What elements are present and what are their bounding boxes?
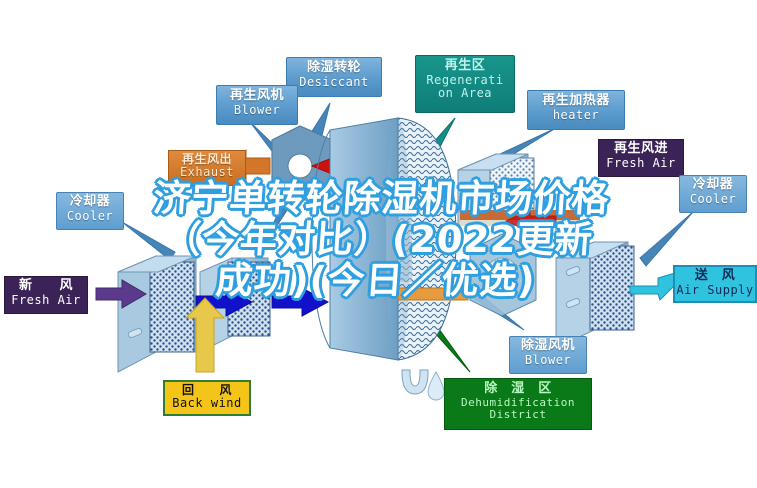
label-regeneration-area-cn: 再生区	[416, 59, 514, 74]
label-regen-fresh-air: 再生风进 Fresh Air	[598, 139, 684, 177]
label-cooler-right-cn: 冷却器	[680, 178, 746, 193]
label-desiccant-en: Desiccant	[287, 76, 381, 89]
label-air-supply-en: Air Supply	[675, 284, 755, 297]
label-exhaust-en: Exhaust	[169, 166, 245, 179]
label-dehum-blower-cn: 除湿风机	[510, 339, 586, 354]
label-cooler-left: 冷却器 Cooler	[56, 192, 124, 230]
label-dehum-blower-en: Blower	[510, 354, 586, 367]
label-regeneration-area-en: Regenerati on Area	[416, 74, 514, 101]
label-back-wind: 回 风 Back wind	[163, 380, 251, 416]
label-regeneration-area: 再生区 Regenerati on Area	[415, 55, 515, 113]
label-regen-fresh-air-en: Fresh Air	[599, 157, 683, 170]
label-back-wind-cn: 回 风	[165, 384, 249, 397]
label-cooler-left-en: Cooler	[57, 210, 123, 223]
label-regen-blower-en: Blower	[217, 104, 297, 117]
label-exhaust-cn: 再生风出	[169, 153, 245, 166]
label-fresh-air-en: Fresh Air	[5, 294, 87, 307]
label-regen-heater: 再生加热器 heater	[527, 90, 625, 130]
label-dehum-blower: 除湿风机 Blower	[509, 336, 587, 374]
label-cooler-right-en: Cooler	[680, 193, 746, 206]
label-regen-fresh-air-cn: 再生风进	[599, 142, 683, 157]
label-desiccant: 除湿转轮 Desiccant	[286, 57, 382, 97]
label-desiccant-cn: 除湿转轮	[287, 61, 381, 76]
label-regen-blower: 再生风机 Blower	[216, 85, 298, 125]
label-regen-heater-en: heater	[528, 109, 624, 122]
label-cooler-left-cn: 冷却器	[57, 195, 123, 210]
label-back-wind-en: Back wind	[165, 397, 249, 410]
diagram-canvas: 除湿转轮 Desiccant 再生风机 Blower 再生区 Regenerat…	[0, 0, 757, 488]
label-regen-blower-cn: 再生风机	[217, 89, 297, 104]
label-regen-heater-cn: 再生加热器	[528, 94, 624, 109]
label-air-supply: 送 风 Air Supply	[673, 265, 757, 303]
label-dehum-district-en: Dehumidification District	[445, 397, 591, 422]
label-dehumidification-district: 除 湿 区 Dehumidification District	[444, 378, 592, 430]
label-exhaust: 再生风出 Exhaust	[168, 150, 246, 186]
label-fresh-air-cn: 新 风	[5, 279, 87, 294]
label-cooler-right: 冷却器 Cooler	[679, 175, 747, 213]
label-fresh-air: 新 风 Fresh Air	[4, 276, 88, 314]
label-air-supply-cn: 送 风	[675, 269, 755, 284]
label-dehum-district-cn: 除 湿 区	[445, 382, 591, 397]
